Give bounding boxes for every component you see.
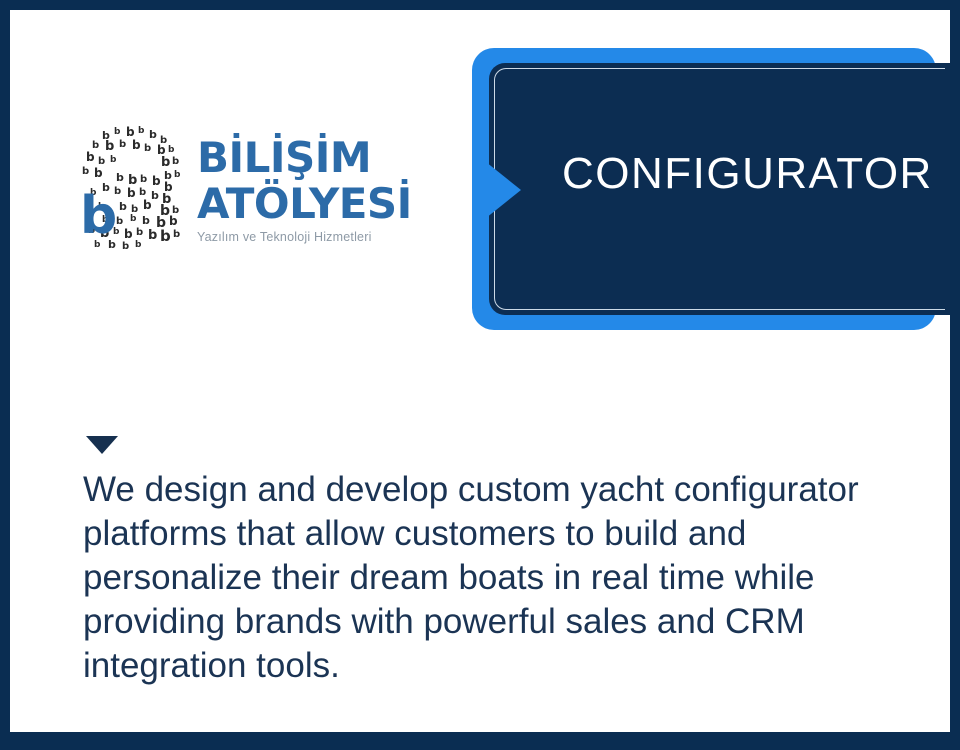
- svg-text:b: b: [132, 138, 141, 152]
- svg-text:b: b: [169, 214, 178, 228]
- svg-text:b: b: [139, 187, 146, 198]
- logo-wordmark: BİLİŞİM ATÖLYESİ Yazılım ve Teknoloji Hi…: [197, 137, 377, 252]
- svg-text:b: b: [116, 171, 124, 184]
- svg-text:b: b: [114, 127, 121, 137]
- svg-text:b: b: [149, 128, 157, 141]
- svg-text:b: b: [140, 174, 147, 185]
- svg-text:b: b: [160, 227, 171, 245]
- svg-text:b: b: [130, 214, 137, 224]
- banner-title: CONFIGURATOR: [562, 48, 933, 300]
- body-line: integration tools.: [83, 644, 883, 688]
- svg-text:b: b: [119, 139, 126, 150]
- svg-text:b: b: [172, 156, 179, 167]
- svg-text:b: b: [86, 150, 95, 164]
- svg-text:b: b: [148, 228, 157, 243]
- body-line: personalize their dream boats in real ti…: [83, 556, 883, 600]
- svg-text:b: b: [174, 170, 181, 180]
- svg-text:b: b: [144, 143, 151, 154]
- svg-text:b: b: [126, 125, 135, 139]
- svg-text:b: b: [142, 214, 150, 227]
- svg-text:b: b: [151, 189, 159, 202]
- logo-tagline: Yazılım ve Teknoloji Hizmetleri: [197, 230, 377, 244]
- logo-line-1: BİLİŞİM: [197, 137, 377, 179]
- svg-text:b: b: [110, 155, 117, 165]
- header-banner: CONFIGURATOR: [472, 48, 950, 332]
- svg-text:b: b: [168, 145, 175, 155]
- svg-text:b: b: [124, 227, 133, 241]
- body-line: We design and develop custom yacht confi…: [83, 468, 883, 512]
- body-line: providing brands with powerful sales and…: [83, 600, 883, 644]
- svg-text:b: b: [94, 166, 103, 180]
- svg-text:b: b: [119, 200, 127, 213]
- brand-logo: b b b b b b b b b b b b b b b b b: [72, 115, 382, 260]
- svg-text:b: b: [138, 126, 145, 136]
- svg-text:b: b: [135, 240, 142, 250]
- triangle-down-icon: [86, 436, 118, 454]
- svg-text:b: b: [161, 155, 170, 170]
- triangle-right-icon: [481, 158, 521, 222]
- svg-text:b: b: [127, 186, 136, 200]
- svg-text:b: b: [80, 186, 117, 246]
- logo-line-2: ATÖLYESİ: [197, 183, 377, 225]
- svg-text:b: b: [82, 166, 89, 177]
- svg-text:b: b: [173, 229, 180, 240]
- svg-text:b: b: [105, 139, 114, 154]
- body-line: platforms that allow customers to build …: [83, 512, 883, 556]
- svg-text:b: b: [143, 198, 152, 212]
- slide-content-area: b b b b b b b b b b b b b b b b b: [10, 10, 950, 732]
- body-paragraph: We design and develop custom yacht confi…: [83, 468, 883, 688]
- svg-text:b: b: [122, 241, 129, 251]
- logo-a-mark-icon: b b b b b b b b b b b b b b b b b: [72, 121, 190, 251]
- svg-text:b: b: [136, 227, 143, 238]
- slide-root: b b b b b b b b b b b b b b b b b: [0, 0, 960, 750]
- svg-text:b: b: [152, 174, 161, 188]
